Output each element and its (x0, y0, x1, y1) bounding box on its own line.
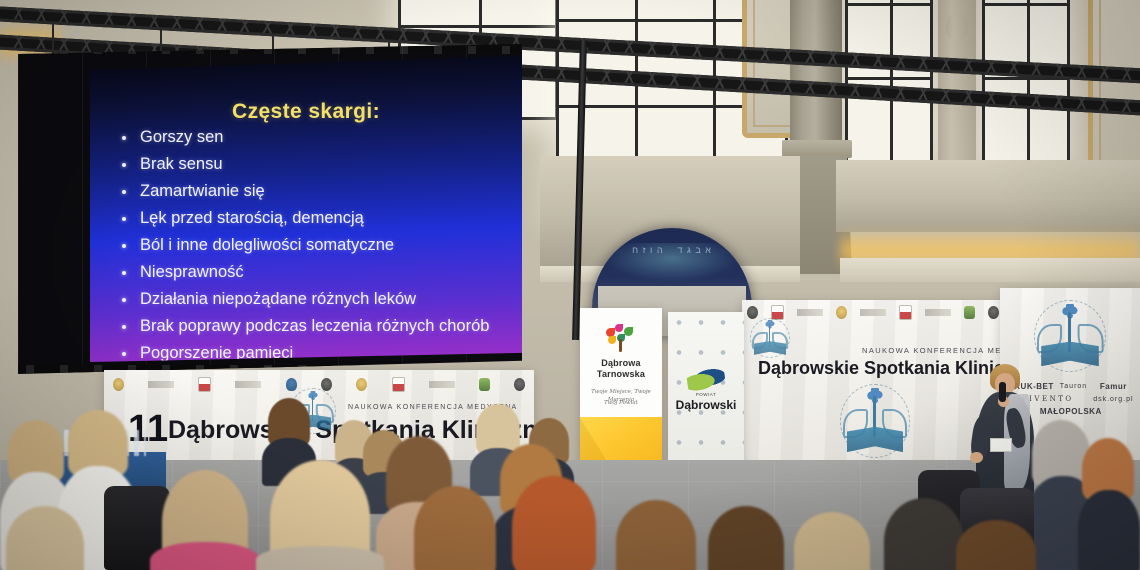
powiat-superscript: POWIAT (668, 392, 744, 397)
banner-main-corner-emblem-icon (750, 318, 790, 358)
tree-logo-icon (604, 324, 638, 352)
sponsor-logo: Famur (1093, 382, 1133, 391)
audience-member-front (700, 506, 792, 570)
banner-main-logo-strip (747, 305, 999, 319)
audience-member-front (404, 486, 506, 570)
audience-member-front (150, 470, 260, 570)
slide-bullet: Zamartwianie się (118, 182, 512, 200)
powiat-title: Dąbrowski (668, 398, 744, 412)
window-right-b (982, 0, 1070, 164)
rollup-title-line2: Tarnowska (580, 369, 662, 379)
window-right-a (845, 0, 933, 164)
partner-crest-icon (479, 378, 490, 391)
partner-crest-icon (356, 378, 367, 391)
audience-member (1078, 438, 1140, 570)
baseboard-right (840, 258, 1140, 282)
slide-bullet: Gorszy sen (118, 128, 512, 146)
partner-crest-icon (392, 377, 405, 392)
partner-wordmark (925, 309, 951, 316)
partner-crest-icon (514, 378, 525, 391)
sponsor-banner-emblem-icon (1034, 300, 1106, 372)
sponsor-logo: dsk.org.pl (1093, 396, 1133, 403)
audience-member-front (608, 500, 704, 570)
partner-crest-icon (747, 306, 758, 319)
banner-main-kicker: NAUKOWA KONFERENCJA MEDYCZNA (862, 346, 1004, 355)
slide-title: Częste skargi: (90, 100, 522, 124)
led-video-wall: Częste skargi: Gorszy sen Brak sensu Zam… (18, 44, 522, 374)
hebrew-inscription: א ב ג ד ה ו ז ח (592, 245, 752, 255)
rollup-title-line1: Dąbrowa (580, 358, 662, 368)
wall-ledge-right (836, 160, 1140, 232)
audience-member-front (948, 520, 1046, 570)
presentation-slide: Częste skargi: Gorszy sen Brak sensu Zam… (90, 56, 522, 362)
conference-hall-photo: א ב ג ד ה ו ז ח Częste skargi: Gorszy se… (0, 0, 1140, 570)
name-badge (990, 438, 1012, 452)
partner-crest-icon (988, 306, 999, 319)
partner-crest-icon (899, 305, 912, 320)
partner-logo-icon (113, 378, 124, 391)
slide-bullet: Działania niepożądane różnych leków (118, 290, 512, 308)
audience-member-front (0, 506, 96, 570)
microphone-icon (999, 382, 1006, 402)
partner-wordmark (235, 381, 261, 388)
audience-member-front (500, 476, 608, 570)
banner-main-center-emblem-icon (840, 384, 910, 458)
pilaster-ornament (946, 14, 968, 40)
truss-drop-1 (52, 22, 54, 56)
sponsor-logo: Tauron (1060, 383, 1087, 390)
partner-wordmark (797, 309, 823, 316)
partner-crest-icon (964, 306, 975, 319)
rollup-tagline-line2: Twój Powiat (580, 399, 662, 407)
audience-member-front (256, 460, 384, 570)
partner-crest-icon (836, 306, 847, 319)
partner-crest-icon (198, 377, 211, 392)
partner-wordmark (860, 309, 886, 316)
slide-bullet: Lęk przed starością, demencją (118, 209, 512, 227)
slide-bullet: Ból i inne dolegliwości somatyczne (118, 236, 512, 254)
speaker-hand (970, 452, 983, 463)
partner-wordmark (429, 381, 455, 388)
fresco-panel-right (1088, 0, 1140, 180)
slide-bullet: Brak poprawy podczas leczenia różnych ch… (118, 317, 512, 335)
slide-bullet: Brak sensu (118, 155, 512, 173)
partner-wordmark (148, 381, 174, 388)
audience-member-front (786, 512, 878, 570)
slide-bullet-list: Gorszy sen Brak sensu Zamartwianie się L… (118, 128, 512, 362)
slide-bullet: Niesprawność (118, 263, 512, 281)
